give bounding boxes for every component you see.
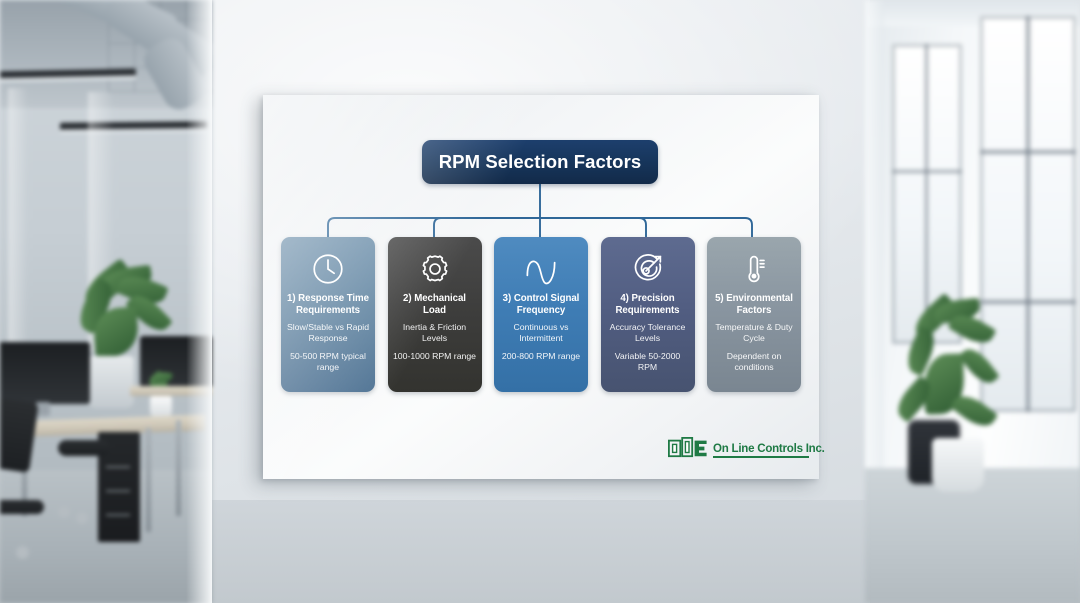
card-subtitle: Temperature & Duty Cycle: [712, 322, 796, 343]
desk-leg: [176, 420, 181, 516]
computer-monitor: [0, 342, 90, 404]
root-node-label: RPM Selection Factors: [439, 151, 642, 173]
wall-column: [8, 88, 28, 368]
plant-pot-right: [932, 438, 984, 492]
factor-card-mechanical-load[interactable]: 2) Mechanical Load Inertia & Friction Le…: [388, 237, 482, 392]
card-subtitle: Continuous vs Intermittent: [499, 322, 583, 343]
sine-wave-icon: [521, 247, 561, 291]
factor-card-row: 1) Response Time Requirements Slow/Stabl…: [281, 237, 801, 392]
target-arrow-icon: [629, 247, 667, 291]
card-title: 1) Response Time Requirements: [286, 293, 370, 316]
center-floor: [208, 500, 870, 603]
card-spec: 200-800 RPM range: [502, 351, 580, 362]
card-title: 2) Mechanical Load: [393, 293, 477, 316]
logo-text-wrap: On Line Controls Inc.: [713, 441, 833, 458]
card-title: 5) Environmental Factors: [712, 293, 796, 316]
card-title: 3) Control Signal Frequency: [499, 293, 583, 316]
company-name: On Line Controls Inc.: [713, 441, 825, 455]
window-mullion: [1026, 16, 1030, 412]
office-left-zone: [0, 0, 212, 603]
window-mullion: [925, 44, 928, 344]
card-spec: 50-500 RPM typical range: [286, 351, 370, 372]
card-spec: 100-1000 RPM range: [393, 351, 476, 362]
office-right-zone: [865, 0, 1080, 603]
desk-leg: [146, 428, 151, 532]
clock-icon: [309, 247, 347, 291]
screenshot-root: RPM Selection Factors 1) Response Time R…: [0, 0, 1080, 603]
card-subtitle: Slow/Stable vs Rapid Response: [286, 322, 370, 343]
logo-underline: [713, 456, 809, 459]
olc-logo-mark: [668, 437, 708, 458]
office-chair-seat: [58, 440, 110, 456]
office-chair-base: [0, 500, 44, 514]
card-subtitle: Accuracy Tolerance Levels: [606, 322, 690, 343]
office-chair: [0, 397, 39, 473]
factor-card-precision[interactable]: 4) Precision Requirements Accuracy Toler…: [601, 237, 695, 392]
card-spec: Variable 50-2000 RPM: [606, 351, 690, 372]
card-title: 4) Precision Requirements: [606, 293, 690, 316]
desk-plant-pot: [150, 396, 172, 418]
chair-wheel: [76, 512, 88, 524]
chair-wheel: [16, 546, 29, 559]
rpm-selection-diagram: RPM Selection Factors 1) Response Time R…: [263, 95, 819, 479]
gear-icon: [416, 247, 454, 291]
chair-wheel: [58, 506, 70, 518]
plant-pot: [88, 356, 134, 408]
root-node: RPM Selection Factors: [422, 140, 658, 184]
thermometer-icon: [735, 247, 773, 291]
factor-card-control-signal[interactable]: 3) Control Signal Frequency Continuous v…: [494, 237, 588, 392]
wall-edge-left: [186, 0, 212, 603]
monitor-stand: [36, 402, 50, 416]
infographic-panel: RPM Selection Factors 1) Response Time R…: [263, 95, 819, 479]
card-spec: Dependent on conditions: [712, 351, 796, 372]
company-logo: On Line Controls Inc.: [668, 437, 833, 458]
card-subtitle: Inertia & Friction Levels: [393, 322, 477, 343]
factor-card-environmental[interactable]: 5) Environmental Factors Temperature & D…: [707, 237, 801, 392]
factor-card-response-time[interactable]: 1) Response Time Requirements Slow/Stabl…: [281, 237, 375, 392]
